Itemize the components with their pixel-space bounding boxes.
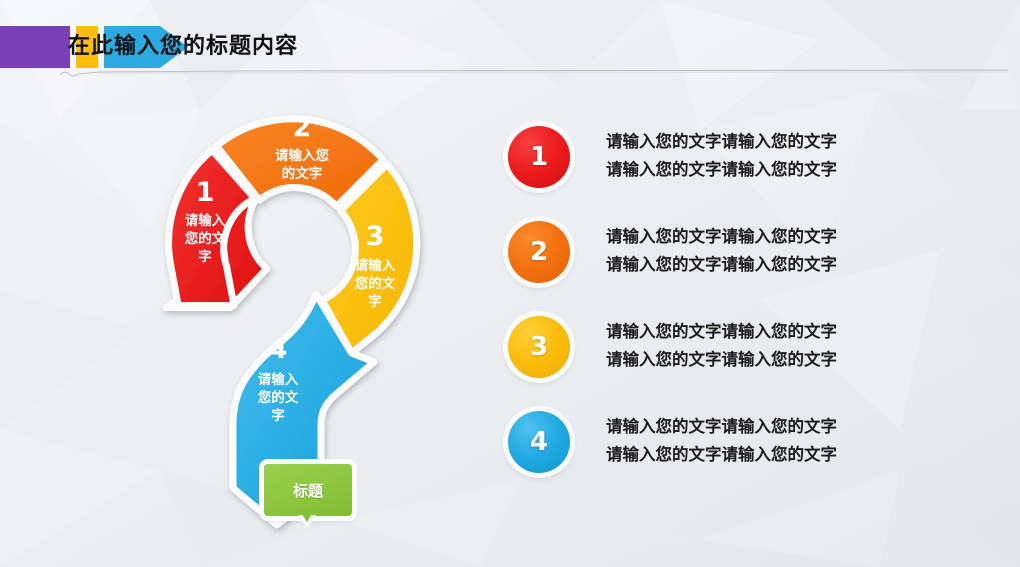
diagram-caption-label: 标题 — [293, 480, 323, 501]
header-flag-purple — [0, 26, 70, 68]
diagram-caption-inner: 标题 — [264, 464, 352, 516]
segment-3-line2: 您的文 — [355, 275, 396, 292]
list-item-3-text: 请输入您的文字请输入您的文字 请输入您的文字请输入您的文字 — [606, 318, 837, 374]
list-item-3-line2: 请输入您的文字请输入您的文字 — [606, 346, 837, 374]
segment-2-line2: 的文字 — [282, 165, 323, 182]
list-bullet-1-number: 1 — [530, 144, 548, 170]
segment-1-line2: 您的文 — [185, 230, 226, 247]
segment-4-number: 4 — [269, 334, 288, 365]
segment-2-number: 2 — [293, 112, 312, 143]
segment-2-line1: 请输入您 — [275, 147, 329, 164]
diagram-caption-box[interactable]: 标题 — [264, 464, 352, 516]
list-bullet-3-number: 3 — [530, 334, 548, 360]
segment-1-line1: 请输入 — [185, 212, 226, 229]
list-item[interactable]: 4 请输入您的文字请输入您的文字 请输入您的文字请输入您的文字 — [500, 403, 1000, 498]
list-bullet-2-number: 2 — [530, 239, 548, 265]
list-bullet-1[interactable]: 1 — [508, 126, 570, 188]
list-item-2-line1: 请输入您的文字请输入您的文字 — [606, 223, 837, 251]
list-item-3-line1: 请输入您的文字请输入您的文字 — [606, 318, 837, 346]
segment-4-line3: 字 — [271, 407, 285, 424]
list-item-1-line2: 请输入您的文字请输入您的文字 — [606, 156, 837, 184]
list-item[interactable]: 3 请输入您的文字请输入您的文字 请输入您的文字请输入您的文字 — [500, 308, 1000, 403]
bullet-list: 1 请输入您的文字请输入您的文字 请输入您的文字请输入您的文字 2 请输入您的文… — [500, 118, 1000, 498]
list-item[interactable]: 2 请输入您的文字请输入您的文字 请输入您的文字请输入您的文字 — [500, 213, 1000, 308]
list-bullet-2[interactable]: 2 — [508, 221, 570, 283]
list-item-2-text: 请输入您的文字请输入您的文字 请输入您的文字请输入您的文字 — [606, 223, 837, 279]
segment-3-line1: 请输入 — [355, 257, 396, 274]
list-bullet-4[interactable]: 4 — [508, 411, 570, 473]
segment-4-line1: 请输入 — [258, 371, 299, 388]
segment-3-number: 3 — [366, 221, 385, 252]
segment-1-number: 1 — [196, 177, 215, 208]
list-bullet-4-number: 4 — [530, 429, 548, 455]
list-item-4-line2: 请输入您的文字请输入您的文字 — [606, 441, 837, 469]
list-item-1-line1: 请输入您的文字请输入您的文字 — [606, 128, 837, 156]
list-item-4-text: 请输入您的文字请输入您的文字 请输入您的文字请输入您的文字 — [606, 413, 837, 469]
list-item-2-line2: 请输入您的文字请输入您的文字 — [606, 251, 837, 279]
list-bullet-3[interactable]: 3 — [508, 316, 570, 378]
caption-tail-fill — [302, 514, 312, 522]
segment-3-line3: 字 — [368, 293, 382, 310]
header-divider-line — [60, 68, 1008, 78]
page-title: 在此输入您的标题内容 — [68, 28, 298, 60]
list-item-4-line1: 请输入您的文字请输入您的文字 — [606, 413, 837, 441]
list-item[interactable]: 1 请输入您的文字请输入您的文字 请输入您的文字请输入您的文字 — [500, 118, 1000, 213]
segment-1-line3: 字 — [198, 248, 212, 265]
segment-4-line2: 您的文 — [258, 389, 299, 406]
list-item-1-text: 请输入您的文字请输入您的文字 请输入您的文字请输入您的文字 — [606, 128, 837, 184]
